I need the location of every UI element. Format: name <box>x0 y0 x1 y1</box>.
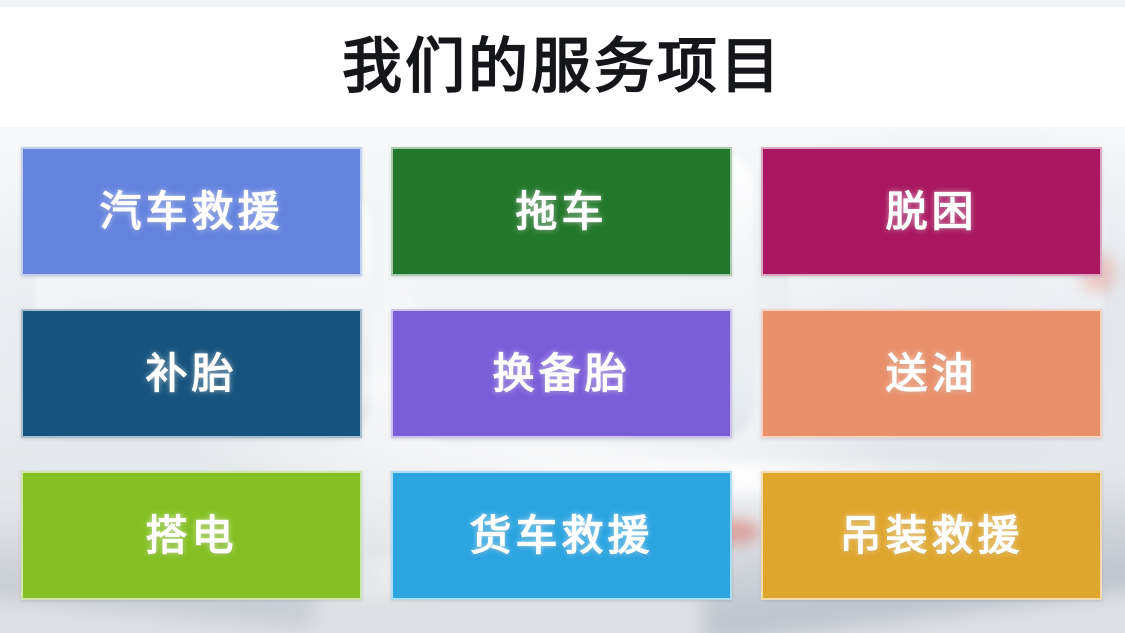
service-tile-label: 货车救援 <box>469 515 653 557</box>
service-tile-label: 换备胎 <box>492 353 630 395</box>
service-tile-label: 吊装救援 <box>839 515 1023 557</box>
service-tile-towing[interactable]: 拖车 <box>391 147 732 276</box>
service-tile-label: 送油 <box>885 353 977 395</box>
service-tile-label: 脱困 <box>885 191 977 233</box>
service-tile-label: 汽车救援 <box>99 191 283 233</box>
service-tile-truck-rescue[interactable]: 货车救援 <box>391 471 732 600</box>
service-tile-fuel-delivery[interactable]: 送油 <box>761 309 1102 438</box>
service-poster: 我们的服务项目 汽车救援 拖车 脱困 补胎 换备胎 送油 搭电 货车救援 吊装救… <box>0 0 1125 633</box>
service-tile-extrication[interactable]: 脱困 <box>761 147 1102 276</box>
header-band: 我们的服务项目 <box>0 0 1125 127</box>
service-tile-tire-repair[interactable]: 补胎 <box>21 309 362 438</box>
service-tile-label: 搭电 <box>145 515 237 557</box>
service-tile-crane-rescue[interactable]: 吊装救援 <box>761 471 1102 600</box>
service-tile-label: 拖车 <box>515 191 607 233</box>
page-title: 我们的服务项目 <box>342 31 783 97</box>
service-tile-label: 补胎 <box>145 353 237 395</box>
service-grid: 汽车救援 拖车 脱困 补胎 换备胎 送油 搭电 货车救援 吊装救援 <box>21 147 1102 600</box>
service-tile-spare-tire-change[interactable]: 换备胎 <box>391 309 732 438</box>
service-tile-jump-start[interactable]: 搭电 <box>21 471 362 600</box>
service-tile-roadside-assistance[interactable]: 汽车救援 <box>21 147 362 276</box>
